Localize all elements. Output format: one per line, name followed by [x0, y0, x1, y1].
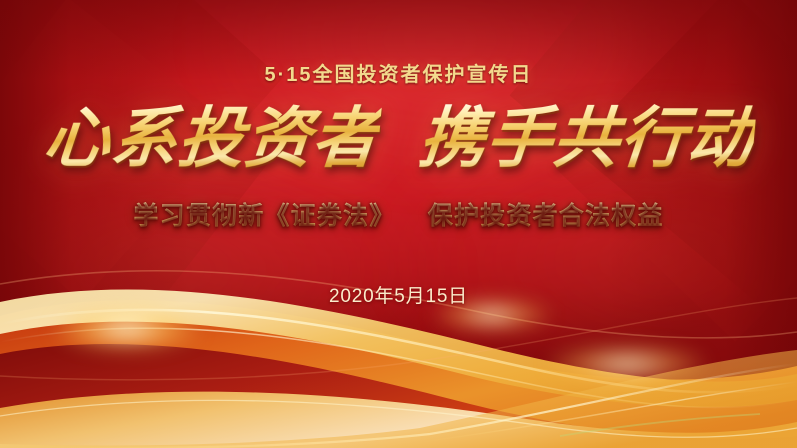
event-date-text: 2020年5月15日	[329, 281, 468, 308]
headline-part-two: 携手共行动	[415, 103, 756, 174]
investor-protection-banner: 5·15全国投资者保护宣传日 心系投资者 携手共行动 学习贯彻新《证券法》 保护…	[0, 0, 797, 448]
banner-content: 5·15全国投资者保护宣传日 心系投资者 携手共行动 学习贯彻新《证券法》 保护…	[0, 0, 797, 448]
headline-part-one: 心系投资者	[40, 103, 381, 174]
subtitle-right-text: 保护投资者合法权益	[428, 202, 664, 230]
headline-calligraphy: 心系投资者 携手共行动	[44, 103, 754, 174]
subtitle-left-text: 学习贯彻新《证券法》	[133, 202, 395, 230]
subtitle-line: 学习贯彻新《证券法》 保护投资者合法权益	[133, 196, 663, 232]
campaign-eyebrow-text: 5·15全国投资者保护宣传日	[264, 58, 532, 87]
